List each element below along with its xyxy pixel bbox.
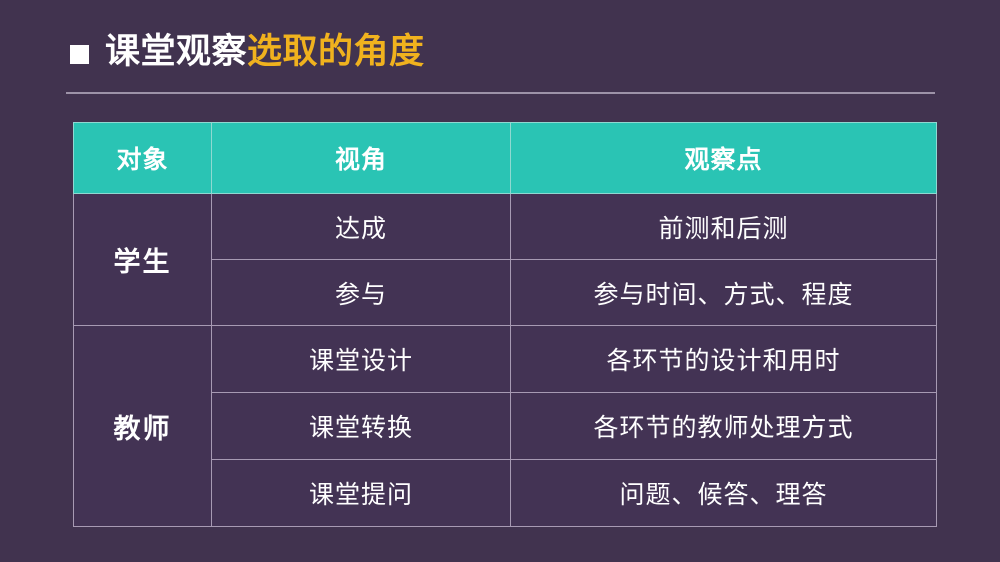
title-divider xyxy=(66,92,935,94)
column-header-object: 对象 xyxy=(74,123,212,194)
title-segment-accent: 选取的角度 xyxy=(247,32,425,71)
cell-view: 课堂设计 xyxy=(212,326,511,393)
group-label-students: 学生 xyxy=(74,194,212,326)
table-row: 教师 课堂设计 各环节的设计和用时 xyxy=(74,326,937,393)
cell-view: 课堂转换 xyxy=(212,393,511,460)
column-header-observation-point: 观察点 xyxy=(511,123,937,194)
cell-view: 参与 xyxy=(212,260,511,326)
page-title: 课堂观察选取的角度 xyxy=(70,33,425,72)
table-row: 学生 达成 前测和后测 xyxy=(74,194,937,260)
table-header: 对象 视角 观察点 xyxy=(74,123,937,194)
title-segment-primary: 课堂观察 xyxy=(105,32,247,71)
group-label-teachers: 教师 xyxy=(74,326,212,527)
cell-view: 达成 xyxy=(212,194,511,260)
cell-observation-point: 问题、候答、理答 xyxy=(511,460,937,527)
cell-observation-point: 各环节的设计和用时 xyxy=(511,326,937,393)
slide-header: 课堂观察选取的角度 xyxy=(0,0,1000,100)
cell-observation-point: 参与时间、方式、程度 xyxy=(511,260,937,326)
cell-observation-point: 各环节的教师处理方式 xyxy=(511,393,937,460)
cell-view: 课堂提问 xyxy=(212,460,511,527)
observation-angles-table: 对象 视角 观察点 学生 达成 前测和后测 参与 参与时间、方式、程度 教师 课… xyxy=(73,122,937,527)
column-header-view: 视角 xyxy=(212,123,511,194)
table-header-row: 对象 视角 观察点 xyxy=(74,123,937,194)
table-body: 学生 达成 前测和后测 参与 参与时间、方式、程度 教师 课堂设计 各环节的设计… xyxy=(74,194,937,527)
square-bullet-icon xyxy=(70,45,89,64)
cell-observation-point: 前测和后测 xyxy=(511,194,937,260)
